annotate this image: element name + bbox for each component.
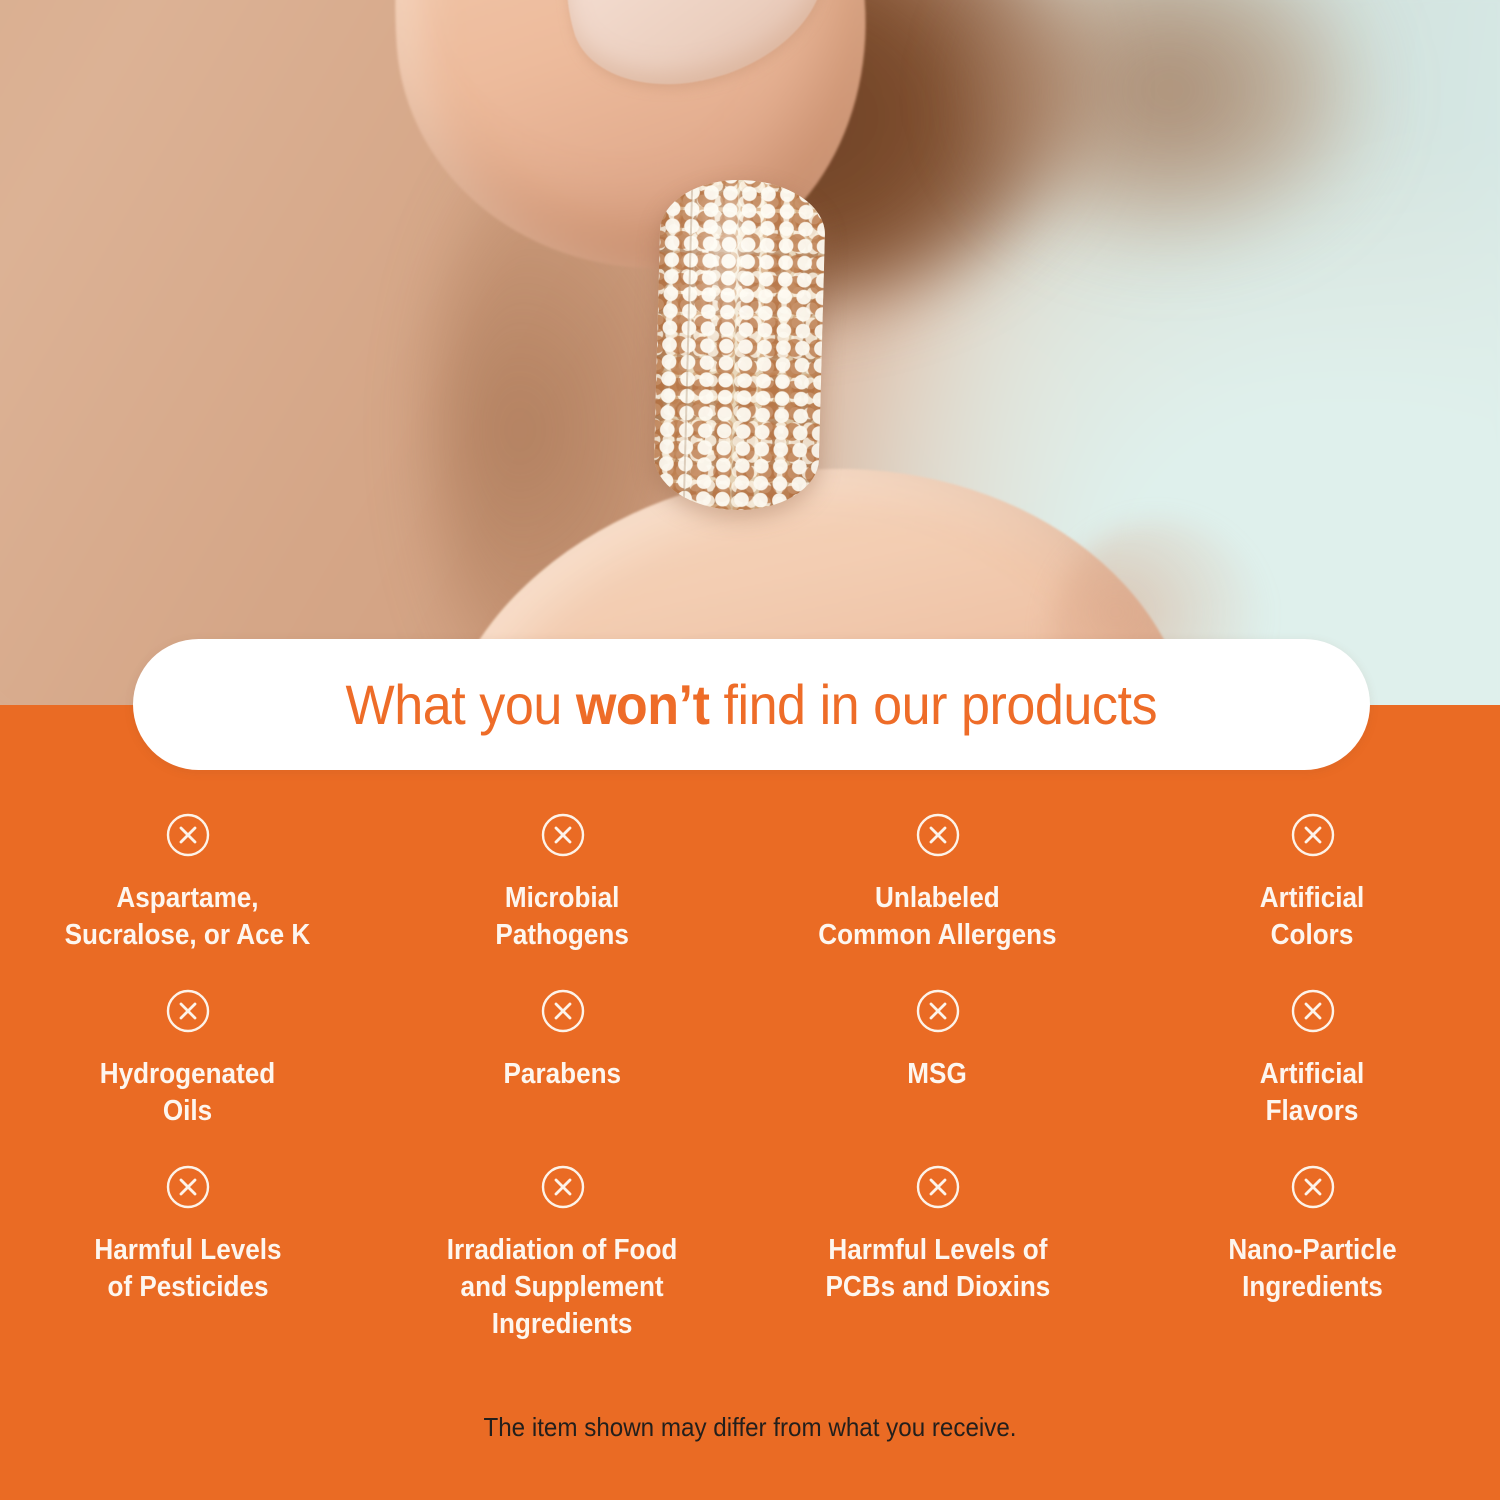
circle-x-icon (165, 1164, 211, 1210)
circle-x-icon (915, 988, 961, 1034)
circle-x-icon (165, 812, 211, 858)
circle-x-icon (540, 812, 586, 858)
page-title-emphasis: won’t (576, 673, 710, 736)
product-claims-infographic: What you won’t find in our products Aspa… (0, 0, 1500, 1500)
circle-x-icon (165, 988, 211, 1034)
supplement-tablet (653, 178, 827, 512)
grid-cell-label: Aspartame, Sucralose, or Ace K (65, 880, 311, 954)
circle-x-icon (915, 812, 961, 858)
grid-cell: Hydrogenated Oils (0, 988, 375, 1164)
product-photo (0, 0, 1500, 712)
excluded-ingredients-grid: Aspartame, Sucralose, or Ace K Microbial… (0, 812, 1500, 1364)
grid-cell-label: Microbial Pathogens (496, 880, 629, 954)
page-title: What you won’t find in our products (346, 677, 1158, 733)
grid-cell: Harmful Levels of PCBs and Dioxins (750, 1164, 1125, 1364)
grid-cell-label: Irradiation of Food and Supplement Ingre… (447, 1232, 678, 1343)
title-card: What you won’t find in our products (133, 639, 1370, 770)
page-title-prefix: What you (346, 673, 576, 736)
grid-cell-label: Harmful Levels of PCBs and Dioxins (825, 1232, 1050, 1306)
grid-cell-label: Unlabeled Common Allergens (818, 880, 1056, 954)
grid-cell: Artificial Colors (1125, 812, 1500, 988)
circle-x-icon (915, 1164, 961, 1210)
grid-cell: Artificial Flavors (1125, 988, 1500, 1164)
grid-cell: Aspartame, Sucralose, or Ace K (0, 812, 375, 988)
grid-cell-label: Nano-Particle Ingredients (1228, 1232, 1396, 1306)
grid-cell: Unlabeled Common Allergens (750, 812, 1125, 988)
circle-x-icon (1290, 1164, 1336, 1210)
grid-cell-label: Parabens (504, 1056, 622, 1093)
grid-cell: Irradiation of Food and Supplement Ingre… (375, 1164, 750, 1364)
disclaimer-text: The item shown may differ from what you … (53, 1412, 1448, 1443)
grid-cell: Harmful Levels of Pesticides (0, 1164, 375, 1364)
circle-x-icon (1290, 988, 1336, 1034)
page-title-suffix: find in our products (710, 673, 1158, 736)
circle-x-icon (540, 988, 586, 1034)
grid-cell: MSG (750, 988, 1125, 1164)
grid-cell-label: Artificial Flavors (1260, 1056, 1364, 1130)
grid-cell-label: Harmful Levels of Pesticides (94, 1232, 281, 1306)
grid-cell: Microbial Pathogens (375, 812, 750, 988)
grid-cell-label: Artificial Colors (1260, 880, 1364, 954)
grid-cell-label: MSG (908, 1056, 967, 1093)
circle-x-icon (540, 1164, 586, 1210)
grid-cell: Parabens (375, 988, 750, 1164)
grid-cell-label: Hydrogenated Oils (100, 1056, 275, 1130)
grid-cell: Nano-Particle Ingredients (1125, 1164, 1500, 1364)
circle-x-icon (1290, 812, 1336, 858)
